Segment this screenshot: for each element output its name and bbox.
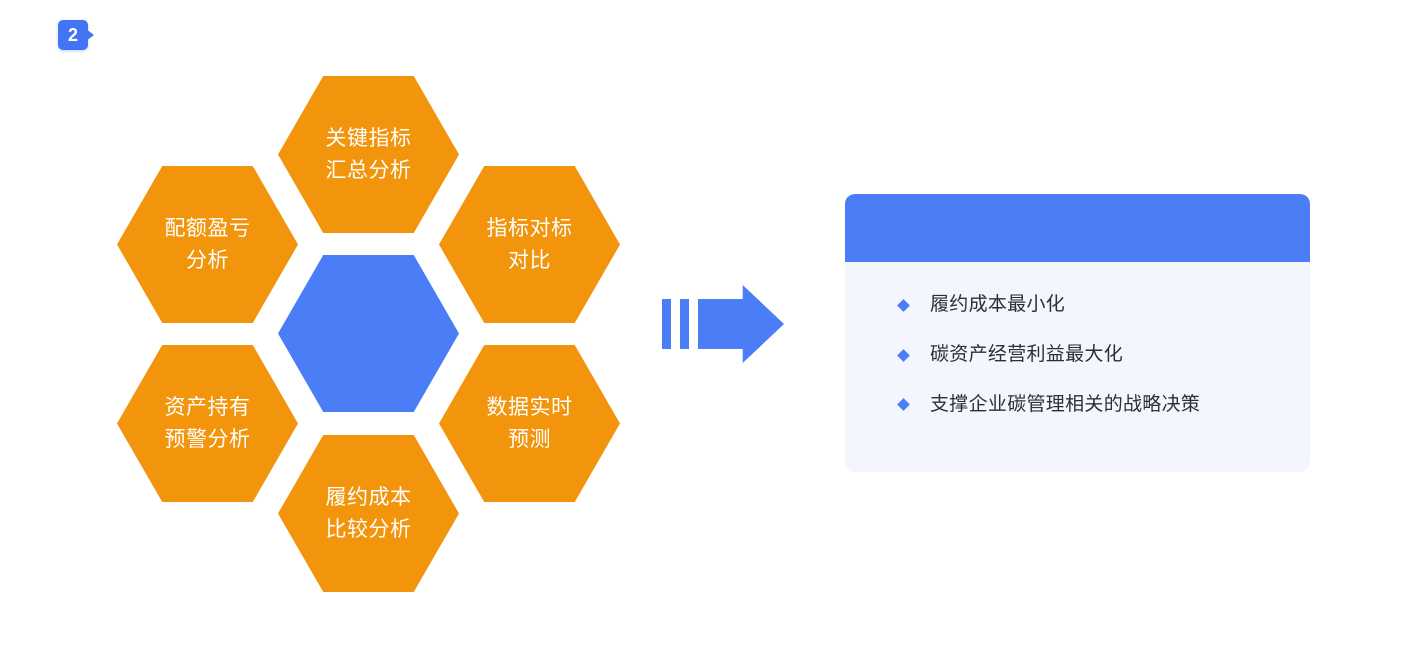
hexagon-label: 关键指标汇总分析 xyxy=(320,123,418,187)
step-badge-number: 2 xyxy=(68,26,78,44)
hexagon-indicator-benchmark[interactable]: 指标对标对比 xyxy=(439,166,620,323)
hexagon-asset-holding-alert[interactable]: 资产持有预警分析 xyxy=(117,345,298,502)
outcome-panel-body: 履约成本最小化 碳资产经营利益最大化 支撑企业碳管理相关的战略决策 xyxy=(845,262,1310,416)
list-item: 支撑企业碳管理相关的战略决策 xyxy=(899,394,1310,417)
hexagon-label: 资产持有预警分析 xyxy=(159,392,257,456)
list-item: 碳资产经营利益最大化 xyxy=(899,344,1310,367)
hexagon-cluster: 关键指标汇总分析 配额盈亏分析 指标对标对比 资产持有预警分析 数据实时预测 履… xyxy=(110,60,650,600)
slide-canvas: 2 关键指标汇总分析 配额盈亏分析 指标对标对比 资产持有预警分析 数据实时预测… xyxy=(0,0,1422,657)
hexagon-label: 指标对标对比 xyxy=(481,213,579,277)
list-item-label: 支撑企业碳管理相关的战略决策 xyxy=(930,394,1200,417)
hexagon-label: 配额盈亏分析 xyxy=(159,213,257,277)
outcome-panel-title xyxy=(845,217,869,239)
list-item-label: 履约成本最小化 xyxy=(930,294,1065,317)
hexagon-center[interactable] xyxy=(278,255,459,412)
arrow-head-icon xyxy=(698,285,784,363)
step-badge: 2 xyxy=(58,20,100,52)
arrow-bar-inner-icon xyxy=(680,299,689,349)
hexagon-key-indicator-summary[interactable]: 关键指标汇总分析 xyxy=(278,76,459,233)
list-item-label: 碳资产经营利益最大化 xyxy=(930,344,1123,367)
arrow-bar-outer-icon xyxy=(662,299,671,349)
hexagon-compliance-cost-comparison[interactable]: 履约成本比较分析 xyxy=(278,435,459,592)
hexagon-realtime-forecast[interactable]: 数据实时预测 xyxy=(439,345,620,502)
hexagon-label: 履约成本比较分析 xyxy=(320,482,418,546)
diamond-bullet-icon xyxy=(897,349,910,362)
outcome-panel-header xyxy=(845,194,1310,262)
hexagon-quota-profit-loss[interactable]: 配额盈亏分析 xyxy=(117,166,298,323)
outcome-panel: 履约成本最小化 碳资产经营利益最大化 支撑企业碳管理相关的战略决策 xyxy=(845,194,1310,472)
list-item: 履约成本最小化 xyxy=(899,294,1310,317)
double-bar-right-arrow-icon xyxy=(662,285,784,363)
step-badge-box: 2 xyxy=(58,20,88,50)
diamond-bullet-icon xyxy=(897,299,910,312)
diamond-bullet-icon xyxy=(897,399,910,412)
hexagon-label: 数据实时预测 xyxy=(481,392,579,456)
step-badge-pointer-icon xyxy=(86,29,94,41)
